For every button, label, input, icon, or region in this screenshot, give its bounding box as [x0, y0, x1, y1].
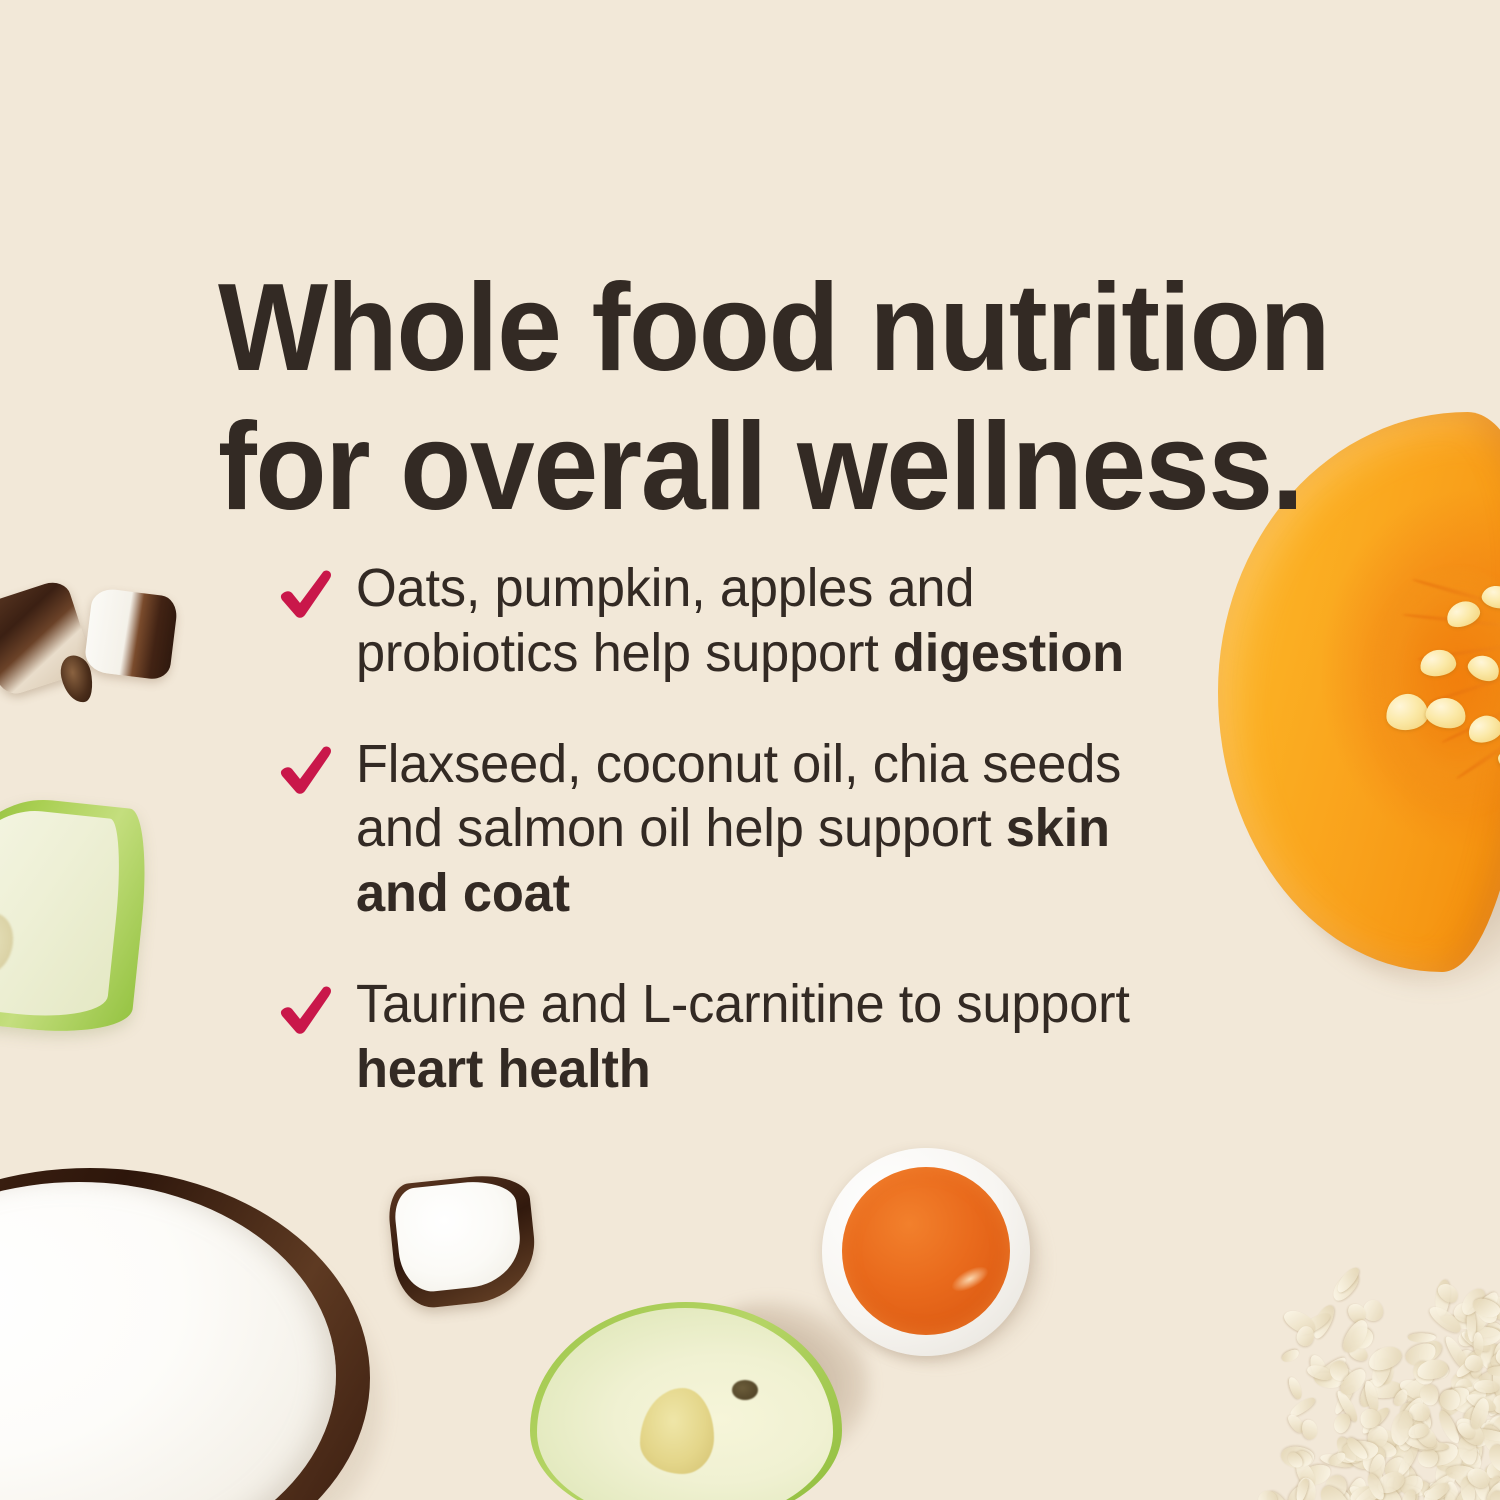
oat-flake	[1468, 1396, 1493, 1431]
oat-flake	[1288, 1395, 1317, 1419]
oat-flake	[1473, 1487, 1500, 1500]
oat-flake	[1450, 1468, 1481, 1499]
oat-flake	[1495, 1398, 1500, 1415]
apple-slice-skin	[0, 790, 153, 1040]
oat-flake	[1463, 1402, 1482, 1434]
oat-flake	[1463, 1353, 1484, 1373]
oat-flake	[1404, 1432, 1438, 1451]
oat-flake	[1309, 1302, 1338, 1341]
oat-flake	[1432, 1456, 1455, 1487]
apple-half-seed	[732, 1380, 758, 1400]
oat-flake	[1362, 1299, 1383, 1321]
oat-flake	[1461, 1386, 1489, 1411]
oat-flake	[1470, 1382, 1500, 1401]
oat-flake	[1407, 1427, 1434, 1450]
oat-flake	[1359, 1404, 1392, 1436]
oat-flake	[1417, 1361, 1436, 1381]
benefit-text: Flaxseed, coconut oil, chia seeds and sa…	[356, 732, 1210, 926]
oat-flake	[1286, 1412, 1307, 1435]
oat-flake	[1461, 1326, 1486, 1343]
list-item: Taurine and L-carnitine to support heart…	[278, 972, 1238, 1102]
oat-flake	[1485, 1442, 1500, 1476]
coconut-chunk-large	[0, 578, 94, 699]
oat-flake	[1465, 1474, 1486, 1493]
oat-flake	[1488, 1411, 1500, 1447]
oat-flake	[1485, 1475, 1500, 1500]
oat-flake	[1491, 1363, 1500, 1402]
oat-flake	[1333, 1265, 1361, 1295]
oat-flake	[1467, 1374, 1494, 1401]
coconut-wedge-shell	[386, 1171, 540, 1311]
oat-flake	[1388, 1408, 1416, 1447]
oat-flake	[1453, 1413, 1490, 1450]
list-item: Oats, pumpkin, apples and probiotics hel…	[278, 556, 1238, 686]
oat-flake	[1470, 1296, 1500, 1321]
oat-flake	[1459, 1385, 1493, 1398]
oat-flake	[1293, 1459, 1319, 1490]
oat-flake	[1332, 1383, 1357, 1416]
oat-flake	[1379, 1485, 1405, 1500]
list-item: Flaxseed, coconut oil, chia seeds and sa…	[278, 732, 1238, 926]
oat-flake	[1355, 1489, 1379, 1500]
oat-flake	[1473, 1326, 1500, 1339]
bowl-rim	[822, 1148, 1030, 1356]
oat-flake	[1464, 1327, 1500, 1347]
pumpkin-seed-cavity	[1362, 568, 1500, 818]
oat-flake	[1281, 1306, 1319, 1338]
coconut-shell	[0, 1168, 370, 1500]
oat-flake	[1493, 1486, 1500, 1500]
oat-flake	[1398, 1483, 1425, 1499]
oat-flake	[1479, 1289, 1500, 1325]
oat-flake	[1474, 1289, 1500, 1318]
oat-flake	[1369, 1355, 1395, 1389]
oat-flake	[1424, 1489, 1446, 1500]
oat-flake	[1467, 1309, 1477, 1342]
oat-flake	[1446, 1466, 1475, 1480]
oat-flake	[1452, 1301, 1476, 1324]
oat-flake	[1457, 1486, 1491, 1500]
oat-flake	[1483, 1462, 1500, 1488]
oat-flake	[1421, 1479, 1453, 1500]
oat-flake	[1337, 1446, 1365, 1464]
oat-flake	[1444, 1482, 1460, 1500]
coconut-chunk-medium	[83, 587, 179, 681]
oat-flake	[1456, 1434, 1479, 1466]
oat-flake	[1295, 1325, 1315, 1348]
oat-flake	[1369, 1488, 1386, 1500]
oat-flake	[1416, 1479, 1442, 1500]
oat-flake	[1494, 1345, 1500, 1366]
oat-flake	[1411, 1421, 1440, 1450]
rolled-oats-image	[1160, 1140, 1500, 1500]
oat-flake	[1351, 1480, 1389, 1500]
oat-flake	[1442, 1385, 1478, 1417]
oat-flake	[1486, 1366, 1500, 1376]
oat-flake	[1446, 1389, 1469, 1412]
oat-flake	[1439, 1313, 1476, 1331]
oat-flake	[1394, 1373, 1431, 1406]
oat-flake	[1452, 1478, 1483, 1500]
benefit-text: Taurine and L-carnitine to support heart…	[356, 972, 1210, 1102]
oat-flake	[1460, 1433, 1489, 1447]
oat-flake	[1426, 1302, 1465, 1336]
oat-flake	[1435, 1408, 1462, 1445]
oat-flake	[1348, 1483, 1376, 1500]
oat-flake	[1317, 1355, 1349, 1382]
oat-flake	[1406, 1417, 1432, 1445]
apple-slice-core	[0, 910, 16, 977]
oat-flake	[1410, 1404, 1435, 1432]
oat-flake	[1415, 1337, 1446, 1367]
oat-flake	[1292, 1449, 1313, 1468]
oat-flake	[1471, 1463, 1500, 1500]
oat-flake	[1396, 1432, 1415, 1453]
oat-flake	[1296, 1309, 1332, 1338]
oat-flake	[1465, 1390, 1499, 1414]
oat-flake	[1434, 1487, 1459, 1500]
oat-flake	[1464, 1464, 1493, 1492]
oat-flake	[1411, 1407, 1424, 1437]
oat-flake	[1429, 1360, 1451, 1381]
oat-flake	[1408, 1402, 1431, 1422]
oat-flake	[1496, 1477, 1500, 1495]
apple-half-image	[530, 1296, 860, 1500]
coconut-wedge-flesh	[392, 1177, 524, 1294]
oat-flake	[1326, 1450, 1347, 1468]
oat-flake	[1294, 1478, 1310, 1500]
coconut-flesh	[0, 1182, 336, 1500]
oat-flake	[1286, 1376, 1304, 1401]
oat-flake	[1439, 1380, 1472, 1420]
oat-flake	[1416, 1357, 1450, 1382]
oat-flake	[1344, 1435, 1370, 1462]
oat-flake	[1323, 1474, 1348, 1500]
oat-flake	[1374, 1468, 1407, 1497]
oat-flake	[1484, 1470, 1500, 1500]
oat-flake	[1284, 1483, 1314, 1500]
oat-flake	[1262, 1488, 1295, 1500]
oat-flake	[1490, 1393, 1500, 1416]
oat-flake	[1466, 1436, 1483, 1465]
oat-flake	[1440, 1485, 1462, 1500]
apple-slice-image	[0, 790, 153, 1040]
oat-flake	[1459, 1449, 1484, 1475]
oat-flake	[1399, 1487, 1420, 1500]
oat-flake	[1296, 1478, 1316, 1500]
oat-flake	[1435, 1448, 1474, 1468]
oat-flake	[1442, 1334, 1471, 1372]
oat-flake	[1419, 1383, 1440, 1406]
pumpkin-shadow	[1223, 497, 1500, 1008]
oat-flake	[1459, 1327, 1492, 1354]
oat-flake	[1403, 1340, 1439, 1369]
oat-flake	[1454, 1377, 1474, 1396]
apple-half-skin	[530, 1302, 842, 1500]
oat-flake	[1366, 1437, 1395, 1451]
oat-flake	[1473, 1380, 1499, 1395]
oat-flake	[1483, 1479, 1500, 1500]
oat-flake	[1306, 1363, 1335, 1383]
oat-flake	[1392, 1388, 1411, 1409]
oat-flake	[1363, 1379, 1381, 1413]
oat-flake	[1412, 1442, 1449, 1452]
salmon-oil-bowl-image	[822, 1148, 1030, 1356]
oat-flake	[1477, 1388, 1500, 1416]
oat-flake	[1469, 1362, 1484, 1380]
check-icon	[278, 744, 334, 798]
oat-flake	[1433, 1279, 1451, 1317]
oat-flake	[1481, 1343, 1500, 1369]
oat-flake	[1409, 1414, 1428, 1439]
oat-flake	[1458, 1414, 1483, 1451]
bowl-oil-highlight	[948, 1262, 992, 1297]
oat-flake	[1373, 1348, 1396, 1385]
oat-flake	[1487, 1362, 1500, 1376]
oat-flake	[1358, 1442, 1389, 1475]
oat-flake	[1409, 1358, 1436, 1388]
oat-flake	[1473, 1332, 1484, 1356]
oat-flake	[1494, 1466, 1500, 1492]
oat-flake	[1455, 1419, 1478, 1441]
oat-flake	[1477, 1364, 1500, 1385]
oat-flake	[1473, 1427, 1500, 1444]
oat-flake	[1356, 1405, 1383, 1432]
apple-slice-flesh	[0, 803, 126, 1024]
oat-flake	[1492, 1342, 1500, 1364]
oat-flake	[1370, 1438, 1398, 1461]
oat-flake	[1475, 1495, 1500, 1500]
oat-flake	[1468, 1491, 1498, 1500]
oat-flake	[1391, 1461, 1413, 1495]
oat-flake	[1496, 1475, 1500, 1500]
oat-flake	[1391, 1461, 1421, 1493]
promo-graphic: Whole food nutrition for overall wellnes…	[0, 0, 1500, 1500]
oat-flake	[1347, 1343, 1370, 1362]
oat-flake	[1395, 1442, 1422, 1478]
oat-flake	[1428, 1480, 1458, 1500]
oat-flake	[1398, 1472, 1427, 1499]
page-title: Whole food nutrition for overall wellnes…	[218, 259, 1238, 537]
oat-flake	[1456, 1348, 1479, 1370]
oat-flake	[1299, 1462, 1333, 1488]
oat-flake	[1456, 1384, 1474, 1404]
oat-flake	[1364, 1452, 1386, 1490]
headline-line-1: Whole food nutrition	[218, 259, 1238, 398]
oat-flake	[1281, 1347, 1301, 1364]
oat-flake	[1331, 1412, 1352, 1436]
oat-flake	[1385, 1473, 1407, 1495]
oat-flake	[1363, 1486, 1396, 1500]
oat-flake	[1367, 1424, 1390, 1449]
oat-flake	[1482, 1416, 1500, 1441]
oat-flake	[1477, 1421, 1500, 1460]
oat-flake	[1459, 1446, 1483, 1473]
oat-flake	[1395, 1399, 1426, 1429]
oat-flake	[1280, 1446, 1315, 1469]
oat-flake	[1422, 1470, 1460, 1500]
oat-flake	[1408, 1333, 1436, 1342]
oat-flake	[1479, 1422, 1497, 1440]
oat-flake	[1344, 1301, 1369, 1327]
oat-flake	[1286, 1450, 1306, 1471]
oat-flake	[1357, 1377, 1382, 1410]
oat-flake	[1328, 1268, 1362, 1304]
benefits-list: Oats, pumpkin, apples and probiotics hel…	[278, 556, 1238, 1102]
oat-flake	[1381, 1454, 1409, 1482]
oat-flake	[1466, 1345, 1497, 1370]
oat-flake	[1434, 1280, 1461, 1306]
oat-flake	[1315, 1482, 1355, 1500]
oat-flake	[1417, 1448, 1439, 1468]
apple-half-shadow	[680, 1300, 870, 1470]
oat-flake	[1482, 1469, 1500, 1494]
coconut-wedge-image	[386, 1171, 540, 1311]
benefit-text: Oats, pumpkin, apples and probiotics hel…	[356, 556, 1210, 686]
oat-flake	[1347, 1483, 1372, 1500]
oat-flake	[1473, 1297, 1500, 1327]
coconut-chunk-small	[57, 652, 96, 705]
oat-flake	[1461, 1401, 1487, 1426]
oat-flake	[1334, 1388, 1360, 1423]
oat-flake	[1422, 1439, 1460, 1468]
oat-flake	[1486, 1386, 1500, 1418]
oat-flake	[1436, 1383, 1473, 1413]
oat-flake	[1319, 1451, 1354, 1469]
oat-flake	[1458, 1476, 1476, 1500]
oat-flake	[1396, 1394, 1428, 1432]
oat-flake	[1460, 1493, 1485, 1500]
oat-flake	[1407, 1421, 1431, 1440]
oat-flake	[1393, 1416, 1416, 1440]
apple-half-flesh	[537, 1308, 833, 1500]
oat-flake	[1449, 1370, 1475, 1397]
oat-flake	[1397, 1375, 1436, 1406]
oat-flake	[1489, 1350, 1500, 1372]
oat-flake	[1455, 1327, 1478, 1349]
check-icon	[278, 568, 334, 622]
oat-flake	[1483, 1458, 1500, 1482]
oat-flake	[1387, 1439, 1417, 1469]
oat-flake	[1421, 1431, 1453, 1464]
oat-flake	[1342, 1440, 1379, 1461]
oat-flake	[1488, 1481, 1500, 1500]
oat-flake	[1437, 1387, 1463, 1413]
oat-flake	[1342, 1476, 1370, 1500]
oat-flake	[1436, 1458, 1472, 1474]
oat-flake	[1329, 1359, 1351, 1382]
oat-flake	[1454, 1357, 1480, 1380]
bowl-shadow	[838, 1166, 1044, 1364]
oat-flake	[1368, 1379, 1403, 1399]
oat-flake	[1458, 1284, 1490, 1318]
oat-flake	[1333, 1434, 1360, 1465]
oat-flake	[1469, 1467, 1492, 1500]
oat-flake	[1365, 1343, 1404, 1375]
oat-flake	[1300, 1418, 1318, 1440]
oat-flake	[1254, 1487, 1280, 1500]
apple-half-core	[640, 1388, 714, 1474]
oat-flake	[1400, 1488, 1418, 1500]
oat-flake	[1486, 1414, 1500, 1438]
oat-flake	[1365, 1472, 1388, 1500]
oat-flake	[1368, 1452, 1388, 1480]
oat-flake	[1455, 1477, 1484, 1500]
oat-flake	[1483, 1319, 1500, 1343]
coconut-half-image	[0, 1168, 370, 1500]
bowl-oil	[842, 1167, 1010, 1335]
oat-flake	[1336, 1365, 1370, 1399]
oat-flake	[1485, 1487, 1500, 1500]
oat-flake	[1351, 1327, 1374, 1350]
oat-flake	[1326, 1489, 1351, 1500]
headline-line-2: for overall wellness.	[218, 398, 1238, 537]
oat-flake	[1463, 1304, 1489, 1334]
oat-flake	[1308, 1353, 1331, 1384]
oat-flake	[1469, 1482, 1489, 1500]
check-icon	[278, 984, 334, 1038]
coconut-shadow	[0, 1204, 384, 1500]
oat-flake	[1459, 1366, 1485, 1392]
oat-flake	[1340, 1317, 1373, 1357]
oat-flake	[1372, 1429, 1397, 1449]
oat-flake	[1404, 1385, 1430, 1417]
oat-flake	[1333, 1368, 1353, 1385]
oat-flake	[1344, 1442, 1378, 1472]
oat-flake	[1313, 1371, 1344, 1390]
